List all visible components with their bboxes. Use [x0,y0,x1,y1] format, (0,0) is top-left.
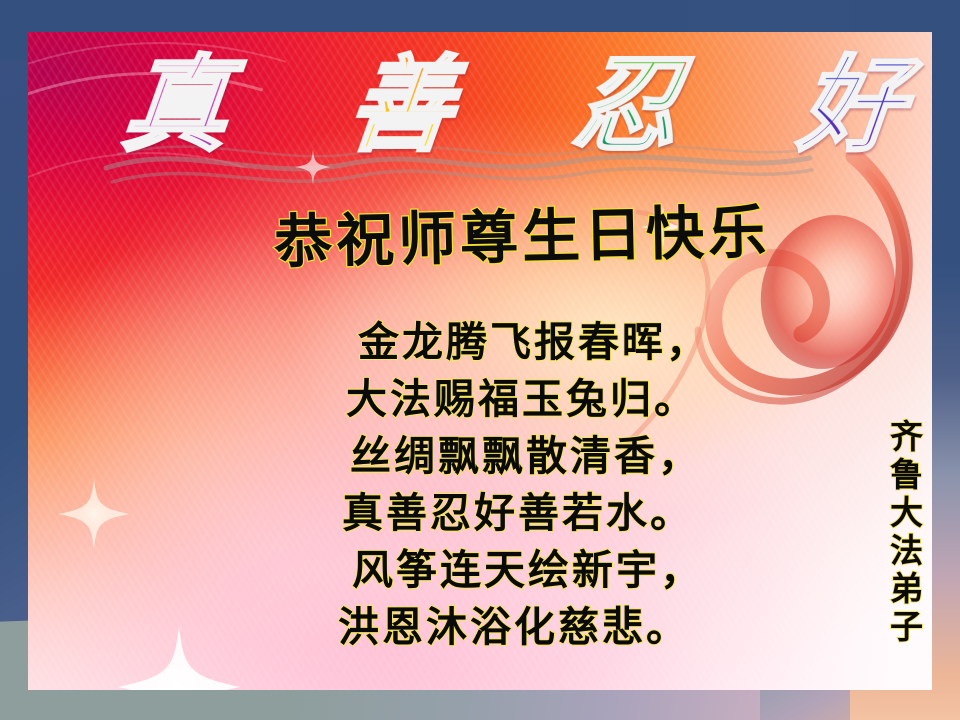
signature-char: 弟 [890,570,923,608]
poem-line: 真善忍好善若水。 [342,485,710,542]
poem-line: 金龙腾飞报春晖， [358,314,710,371]
poem-line: 风筝连天绘新宇， [352,542,710,599]
presentation-slide-frame: 真 善 忍 好 恭祝师尊生日快乐 金龙腾飞报春晖， 大法赐福玉兔归。 丝绸飘飘散… [0,0,960,720]
poem-line: 洪恩沐浴化慈悲。 [338,599,710,656]
signature-char: 大 [890,494,923,532]
slide-artwork: 真 善 忍 好 恭祝师尊生日快乐 金龙腾飞报春晖， 大法赐福玉兔归。 丝绸飘飘散… [28,32,932,690]
title-characters-row: 真 善 忍 好 [124,50,904,159]
subtitle-greeting: 恭祝师尊生日快乐 [273,185,771,279]
signature-char: 齐 [890,418,923,456]
title-char-zhen: 真 [118,50,233,159]
signature-char: 子 [890,608,923,646]
title-char-hao: 好 [794,50,909,159]
signature-column: 齐 鲁 大 法 弟 子 [890,418,923,646]
poem-line: 丝绸飘飘散清香， [350,428,710,485]
signature-char: 鲁 [890,456,923,494]
signature-char: 法 [890,532,923,570]
poem-line: 大法赐福玉兔归。 [346,371,710,428]
title-char-ren: 忍 [569,50,684,159]
title-char-shan: 善 [344,50,459,159]
poem-block: 金龙腾飞报春晖， 大法赐福玉兔归。 丝绸飘飘散清香， 真善忍好善若水。 风筝连天… [338,314,710,656]
